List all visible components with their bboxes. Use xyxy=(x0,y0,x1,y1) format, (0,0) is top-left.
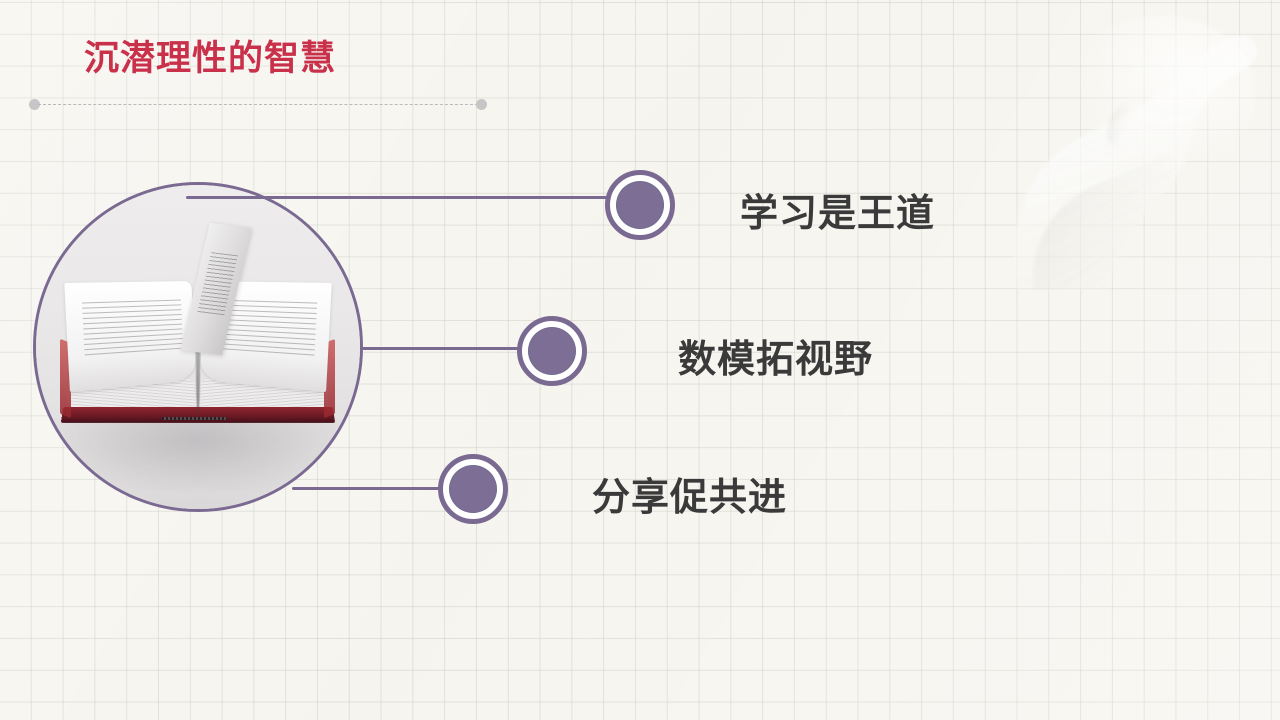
howling-wolf-icon xyxy=(956,0,1280,290)
photo-backdrop xyxy=(36,185,360,509)
bullet-label-1: 学习是王道 xyxy=(740,182,935,237)
bullet-node-core-2 xyxy=(528,327,576,375)
bullet-node-2[interactable] xyxy=(517,316,587,386)
connector-line-1 xyxy=(186,196,612,199)
dashed-divider xyxy=(29,99,487,110)
page-title: 沉潜理性的智慧 xyxy=(84,38,336,80)
open-page-left xyxy=(64,281,196,392)
connector-line-3 xyxy=(292,487,447,490)
page-text-left xyxy=(82,299,183,358)
divider-dash-line xyxy=(38,104,478,105)
bullet-node-core-3 xyxy=(449,465,497,513)
turning-page-text xyxy=(197,251,239,315)
bullet-label-2: 数模拓视野 xyxy=(678,328,873,383)
divider-dot-right xyxy=(476,99,487,110)
bullet-node-3[interactable] xyxy=(438,454,508,524)
bullet-label-3: 分享促共进 xyxy=(592,466,787,521)
connector-line-2 xyxy=(362,347,525,350)
slide-canvas: 沉潜理性的智慧 xyxy=(0,0,1280,720)
desk-shadow xyxy=(49,418,347,489)
open-book-photo xyxy=(33,182,363,512)
bullet-node-core-1 xyxy=(616,181,664,229)
spine-stitching xyxy=(162,417,227,421)
bullet-node-1[interactable] xyxy=(605,170,675,240)
